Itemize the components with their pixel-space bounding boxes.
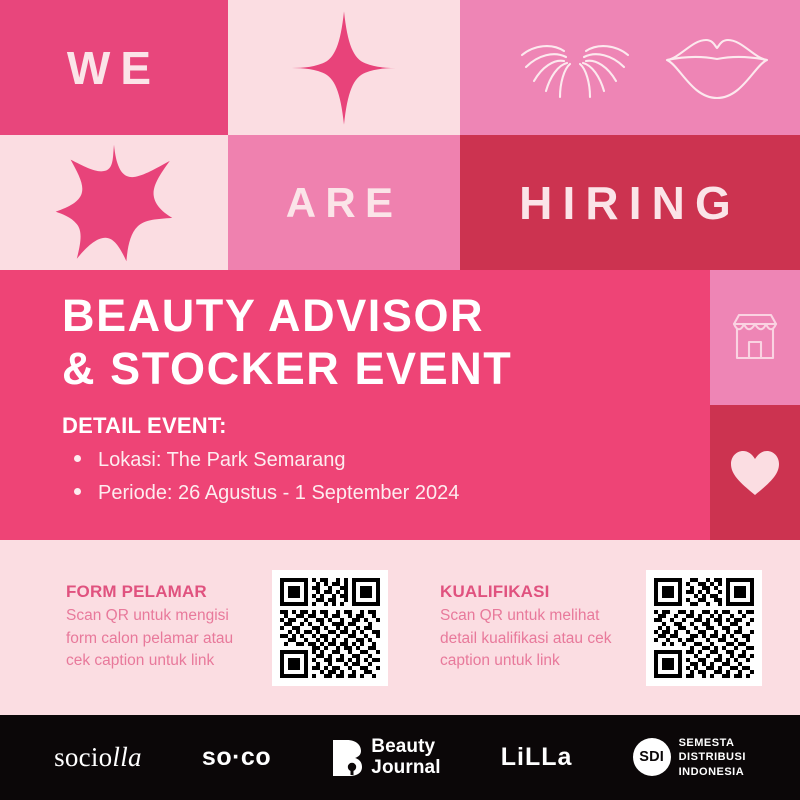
logo-beauty-journal-text: Beauty Journal	[371, 737, 440, 777]
list-item: Lokasi: The Park Semarang	[62, 448, 700, 472]
hero-cell-sparkle	[228, 0, 460, 135]
hero-word-we: WE	[67, 45, 161, 91]
hero-cell-face	[460, 0, 800, 135]
qr-text-form-pelamar: FORM PELAMAR Scan QR untuk mengisi form …	[66, 582, 258, 672]
side-panel-heart	[710, 405, 800, 540]
qr-text-kualifikasi: KUALIFIKASI Scan QR untuk melihat detail…	[440, 582, 632, 672]
logo-bj-line1: Beauty	[371, 737, 440, 757]
logo-sdi: SDI SEMESTA DISTRIBUSI INDONESIA	[633, 736, 746, 779]
lips-icon	[664, 32, 770, 104]
hero-cell-star	[0, 135, 228, 270]
six-point-star-icon	[52, 141, 176, 265]
qr-block-kualifikasi: KUALIFIKASI Scan QR untuk melihat detail…	[440, 570, 762, 686]
logo-sdi-line1: SEMESTA	[679, 736, 746, 750]
qr-code-form-pelamar[interactable]	[272, 570, 388, 686]
hero-word-hiring: HIRING	[519, 180, 741, 226]
logo-soco-label: so·co	[202, 743, 271, 772]
logo-lilla: LiLLa	[501, 743, 573, 772]
logo-sdi-text: SEMESTA DISTRIBUSI INDONESIA	[679, 736, 746, 779]
logo-sociolla: sociolla	[54, 742, 142, 773]
logo-soco: so·co	[202, 743, 271, 772]
hero-grid: WE	[0, 0, 800, 270]
logo-sdi-line2: DISTRIBUSI	[679, 750, 746, 764]
qr-title: FORM PELAMAR	[66, 582, 258, 602]
list-item-label: Lokasi: The Park Semarang	[98, 448, 346, 472]
qr-title: KUALIFIKASI	[440, 582, 632, 602]
partner-logo-bar: sociolla so·co Beauty Journal LiLLa SDI …	[0, 715, 800, 800]
side-panel-shop	[710, 270, 800, 405]
storefront-icon	[727, 310, 783, 366]
logo-sdi-mark: SDI	[633, 738, 671, 776]
four-point-star-icon	[285, 9, 403, 127]
bullet-dot-icon	[74, 455, 81, 462]
qr-block-form-pelamar: FORM PELAMAR Scan QR untuk mengisi form …	[66, 570, 388, 686]
main-section: BEAUTY ADVISOR & STOCKER EVENT DETAIL EV…	[0, 270, 800, 540]
logo-bj-line2: Journal	[371, 758, 440, 778]
logo-sdi-line3: INDONESIA	[679, 765, 746, 779]
headline-line-2: & STOCKER EVENT	[62, 343, 700, 396]
list-item: Periode: 26 Agustus - 1 September 2024	[62, 481, 700, 505]
beauty-journal-b-icon	[331, 738, 363, 778]
qr-description: Scan QR untuk mengisi form calon pelamar…	[66, 605, 258, 672]
hero-cell-we: WE	[0, 0, 228, 135]
logo-sociolla-part1: socio	[54, 742, 112, 773]
headline-line-1: BEAUTY ADVISOR	[62, 290, 700, 343]
qr-section: FORM PELAMAR Scan QR untuk mengisi form …	[0, 540, 800, 715]
logo-sociolla-part2: lla	[112, 742, 141, 773]
hiring-poster: WE	[0, 0, 800, 800]
detail-event-list: Lokasi: The Park Semarang Periode: 26 Ag…	[62, 448, 700, 505]
heart-icon	[729, 449, 781, 497]
qr-code-graphic	[280, 578, 380, 678]
logo-beauty-journal: Beauty Journal	[331, 737, 440, 777]
list-item-label: Periode: 26 Agustus - 1 September 2024	[98, 481, 459, 505]
main-content: BEAUTY ADVISOR & STOCKER EVENT DETAIL EV…	[62, 290, 700, 514]
qr-code-kualifikasi[interactable]	[646, 570, 762, 686]
logo-lilla-label: LiLLa	[501, 743, 573, 772]
hero-word-are: ARE	[286, 182, 402, 224]
qr-description: Scan QR untuk melihat detail kualifikasi…	[440, 605, 632, 672]
qr-code-graphic	[654, 578, 754, 678]
eyelash-icon	[512, 29, 638, 107]
bullet-dot-icon	[74, 488, 81, 495]
detail-event-label: DETAIL EVENT:	[62, 413, 700, 439]
hero-cell-hiring: HIRING	[460, 135, 800, 270]
hero-cell-are: ARE	[228, 135, 460, 270]
